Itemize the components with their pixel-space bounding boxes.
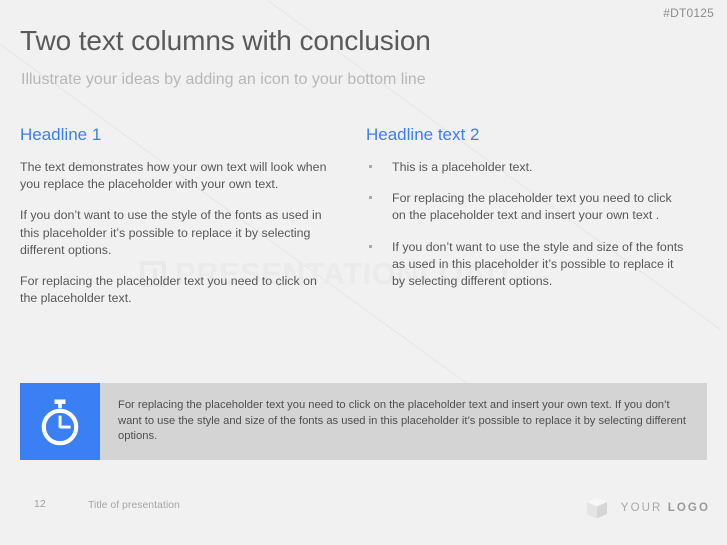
bullet-dot-icon [369, 165, 372, 168]
list-item-label: If you don’t want to use the style and s… [392, 240, 683, 289]
right-column-bullet-list: This is a placeholder text. For replacin… [366, 159, 686, 291]
cube-logo-icon [584, 495, 610, 521]
list-item-label: For replacing the placeholder text you n… [392, 191, 672, 222]
bullet-dot-icon [369, 196, 372, 199]
left-column-paragraph[interactable]: The text demonstrates how your own text … [20, 159, 330, 194]
list-item-label: This is a placeholder text. [392, 160, 533, 174]
stopwatch-icon [37, 398, 83, 446]
list-item[interactable]: If you don’t want to use the style and s… [366, 239, 686, 291]
right-text-column: Headline text 2 This is a placeholder te… [366, 126, 686, 290]
conclusion-icon-tile[interactable] [20, 383, 100, 460]
right-column-headline[interactable]: Headline text 2 [366, 126, 686, 145]
page-number: 12 [34, 498, 46, 510]
logo[interactable]: YOUR LOGO [584, 495, 710, 521]
left-column-headline[interactable]: Headline 1 [20, 126, 330, 145]
list-item[interactable]: This is a placeholder text. [366, 159, 686, 176]
conclusion-text-box[interactable]: For replacing the placeholder text you n… [100, 383, 707, 460]
template-code: #DT0125 [663, 6, 714, 20]
page-subtitle[interactable]: Illustrate your ideas by adding an icon … [21, 71, 426, 89]
footer-presentation-title[interactable]: Title of presentation [88, 499, 180, 511]
bullet-dot-icon [369, 245, 372, 248]
left-column-paragraph[interactable]: For replacing the placeholder text you n… [20, 273, 330, 308]
conclusion-text: For replacing the placeholder text you n… [118, 398, 693, 445]
logo-word-logo: LOGO [668, 502, 710, 514]
left-text-column: Headline 1 The text demonstrates how you… [20, 126, 330, 308]
list-item[interactable]: For replacing the placeholder text you n… [366, 190, 686, 225]
left-column-paragraph[interactable]: If you don’t want to use the style of th… [20, 207, 330, 259]
logo-word-your: YOUR [621, 502, 663, 514]
conclusion-bar: For replacing the placeholder text you n… [20, 383, 707, 460]
logo-text: YOUR LOGO [621, 502, 710, 514]
page-title[interactable]: Two text columns with conclusion [20, 25, 431, 57]
slide: PRESENTATIONLOAD #DT0125 Two text column… [0, 0, 727, 545]
